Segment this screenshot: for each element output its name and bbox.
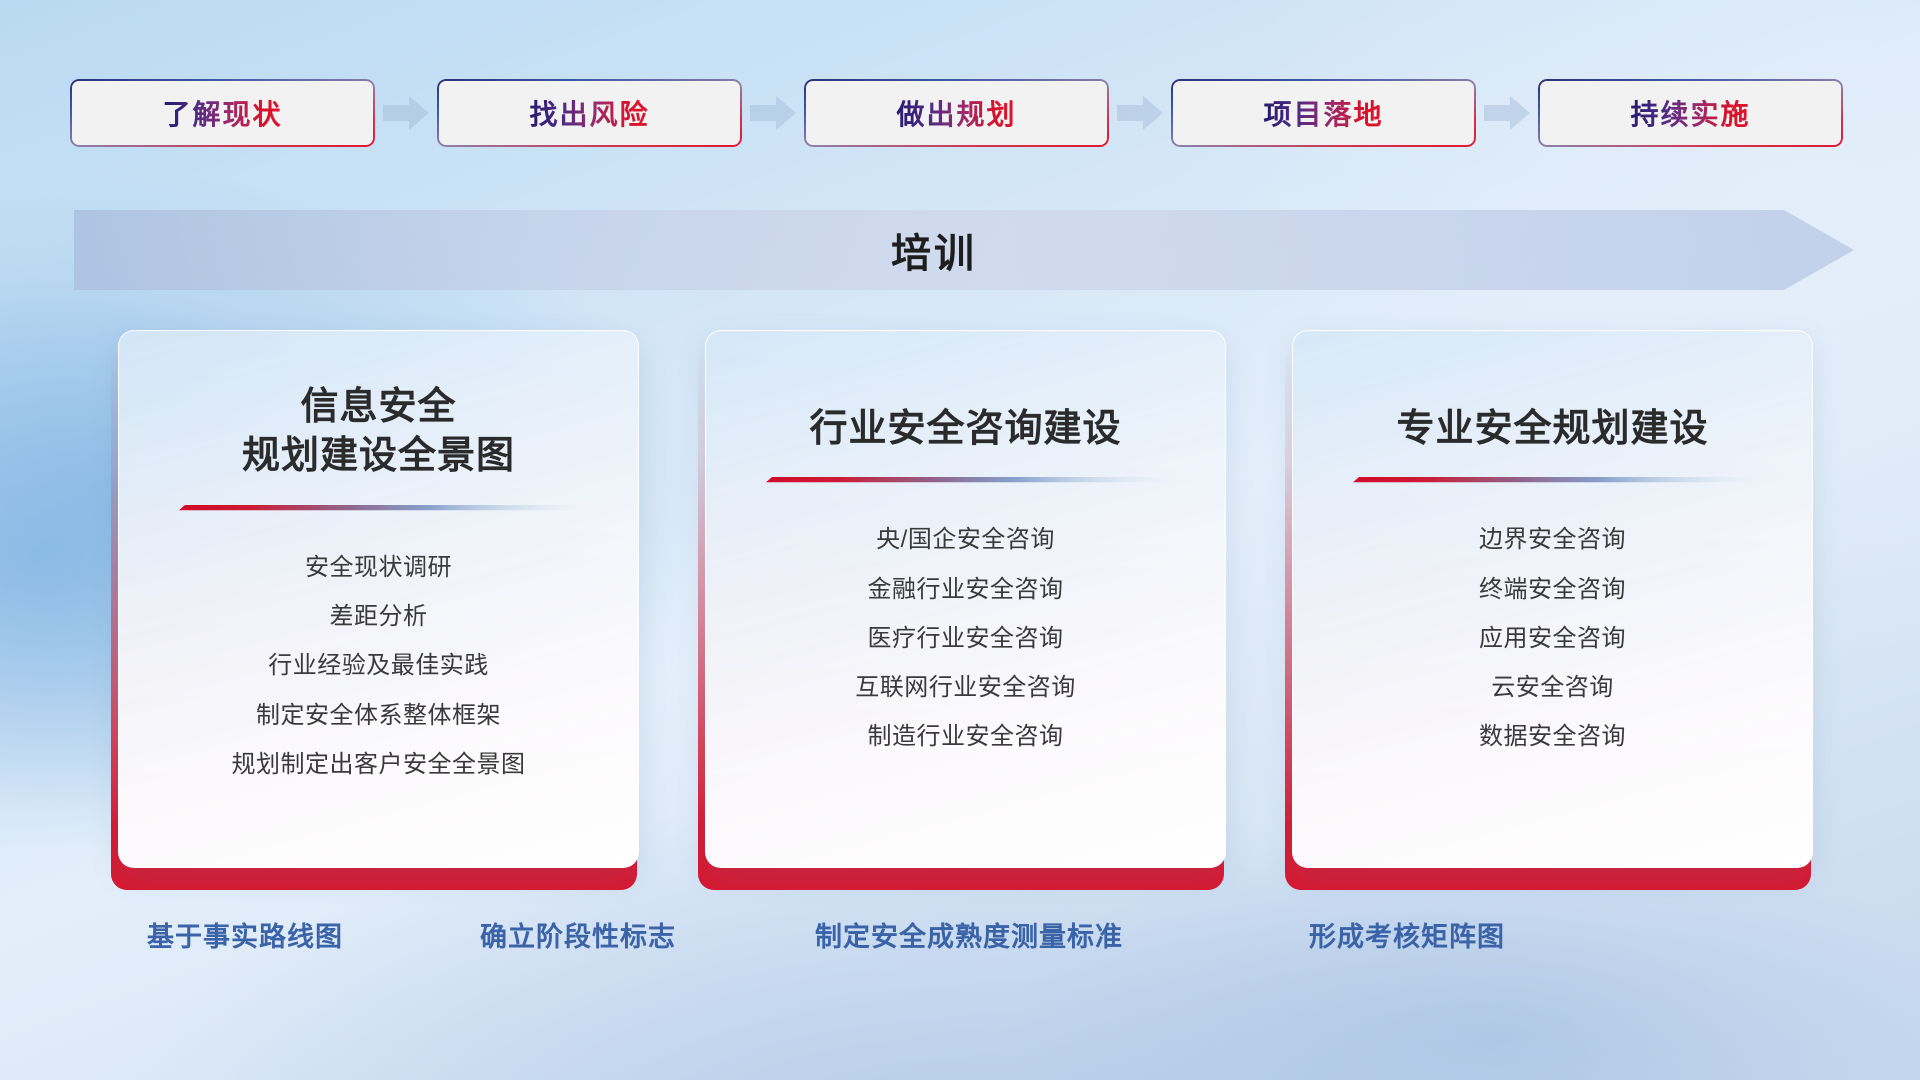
step-label: 项目落地: [1263, 93, 1383, 133]
training-banner: 培训: [74, 210, 1854, 290]
list-item: 应用安全咨询: [1479, 618, 1626, 659]
step-label: 了解现状: [162, 93, 282, 133]
card-divider: [1353, 476, 1753, 489]
footer-label-2: 确立阶段性标志: [480, 915, 676, 954]
footer-labels-row: 基于事实路线图确立阶段性标志制定安全成熟度测量标准形成考核矩阵图: [0, 915, 1920, 965]
step-label: 做出规划: [896, 93, 1016, 133]
list-item: 安全现状调研: [305, 547, 452, 588]
arrow-right-icon: [742, 93, 804, 133]
service-card-1[interactable]: 信息安全 规划建设全景图安全现状调研差距分析行业经验及最佳实践制定安全体系整体框…: [110, 330, 635, 875]
list-item: 制造行业安全咨询: [868, 716, 1064, 757]
service-card-3[interactable]: 专业安全规划建设边界安全咨询终端安全咨询应用安全咨询云安全咨询数据安全咨询: [1284, 330, 1809, 875]
card-title: 行业安全咨询建设: [793, 405, 1137, 454]
slide-canvas: 了解现状找出风险做出规划项目落地持续实施 培训 信息安全 规划建设全景图安全现状…: [0, 0, 1920, 1080]
list-item: 云安全咨询: [1491, 667, 1614, 708]
service-card-2[interactable]: 行业安全咨询建设央/国企安全咨询金融行业安全咨询医疗行业安全咨询互联网行业安全咨…: [697, 330, 1222, 875]
step-label: 找出风险: [529, 93, 649, 133]
list-item: 央/国企安全咨询: [876, 519, 1055, 560]
list-item: 差距分析: [330, 596, 428, 637]
process-steps-row: 了解现状找出风险做出规划项目落地持续实施: [70, 77, 1850, 149]
list-item: 边界安全咨询: [1479, 519, 1626, 560]
step-box-5[interactable]: 持续实施: [1538, 79, 1843, 147]
step-box-3[interactable]: 做出规划: [804, 79, 1109, 147]
footer-label-4: 形成考核矩阵图: [1309, 915, 1505, 954]
card-title: 信息安全 规划建设全景图: [226, 383, 531, 482]
service-cards: 信息安全 规划建设全景图安全现状调研差距分析行业经验及最佳实践制定安全体系整体框…: [110, 330, 1810, 890]
list-item: 金融行业安全咨询: [868, 569, 1064, 610]
list-item: 互联网行业安全咨询: [855, 667, 1076, 708]
list-item: 终端安全咨询: [1479, 569, 1626, 610]
card-item-list: 边界安全咨询终端安全咨询应用安全咨询云安全咨询数据安全咨询: [1293, 519, 1812, 757]
card-body: 专业安全规划建设边界安全咨询终端安全咨询应用安全咨询云安全咨询数据安全咨询: [1292, 330, 1813, 868]
arrow-right-icon: [375, 93, 437, 133]
list-item: 行业经验及最佳实践: [268, 645, 489, 686]
step-box-4[interactable]: 项目落地: [1171, 79, 1476, 147]
arrow-right-icon: [1109, 93, 1171, 133]
footer-label-1: 基于事实路线图: [147, 915, 343, 954]
list-item: 规划制定出客户安全全景图: [232, 744, 526, 785]
list-item: 医疗行业安全咨询: [868, 618, 1064, 659]
step-box-2[interactable]: 找出风险: [437, 79, 742, 147]
card-item-list: 安全现状调研差距分析行业经验及最佳实践制定安全体系整体框架规划制定出客户安全全景…: [119, 547, 638, 785]
card-body: 信息安全 规划建设全景图安全现状调研差距分析行业经验及最佳实践制定安全体系整体框…: [118, 330, 639, 868]
step-box-1[interactable]: 了解现状: [70, 79, 375, 147]
arrow-right-icon: [1476, 93, 1538, 133]
footer-label-3: 制定安全成熟度测量标准: [815, 915, 1123, 954]
card-divider: [766, 476, 1166, 489]
card-title: 专业安全规划建设: [1380, 405, 1724, 454]
card-body: 行业安全咨询建设央/国企安全咨询金融行业安全咨询医疗行业安全咨询互联网行业安全咨…: [705, 330, 1226, 868]
list-item: 数据安全咨询: [1479, 716, 1626, 757]
banner-label: 培训: [74, 210, 1854, 290]
step-label: 持续实施: [1630, 93, 1750, 133]
card-divider: [179, 504, 579, 517]
list-item: 制定安全体系整体框架: [256, 695, 501, 736]
card-item-list: 央/国企安全咨询金融行业安全咨询医疗行业安全咨询互联网行业安全咨询制造行业安全咨…: [706, 519, 1225, 757]
